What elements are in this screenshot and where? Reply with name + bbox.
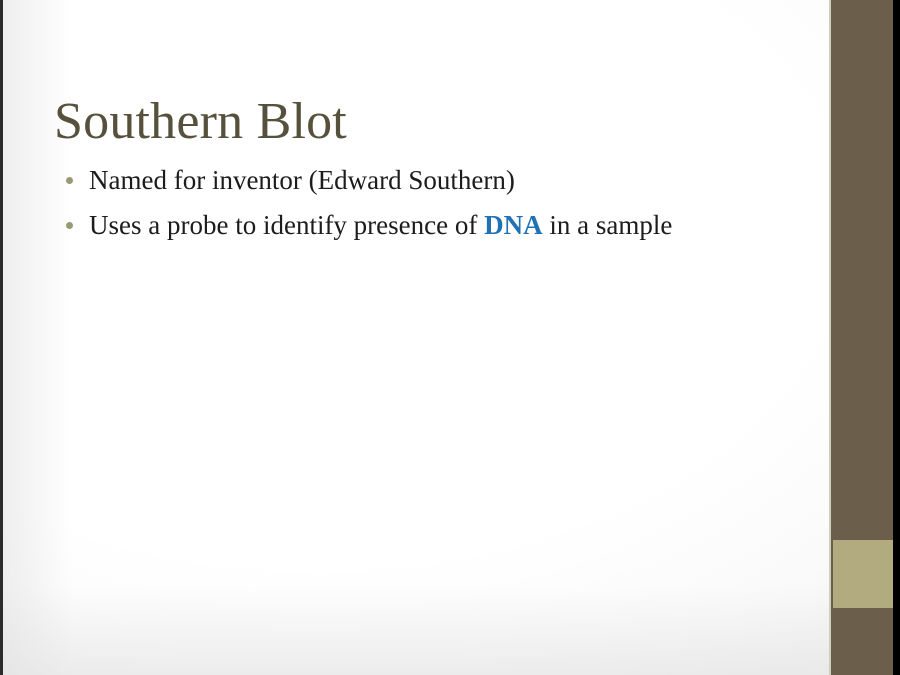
sidebar-hairline	[829, 0, 831, 675]
bullet-marker-icon	[66, 177, 73, 184]
list-item: Uses a probe to identify presence of DNA…	[62, 207, 802, 243]
bullet-text-pre: Named for inventor (Edward Southern)	[89, 165, 515, 195]
bullet-list: Named for inventor (Edward Southern) Use…	[62, 162, 802, 252]
slide-viewer: Southern Blot Named for inventor (Edward…	[0, 0, 900, 675]
bullet-text-post: in a sample	[543, 210, 673, 240]
bullet-keyword: DNA	[484, 210, 543, 240]
frame-right-edge	[893, 0, 900, 675]
frame-left-edge	[0, 0, 3, 675]
bullet-text-pre: Uses a probe to identify presence of	[89, 210, 484, 240]
page-title: Southern Blot	[54, 91, 347, 153]
bullet-marker-icon	[66, 222, 73, 229]
sidebar-accent-block	[833, 540, 893, 608]
list-item: Named for inventor (Edward Southern)	[62, 162, 802, 198]
